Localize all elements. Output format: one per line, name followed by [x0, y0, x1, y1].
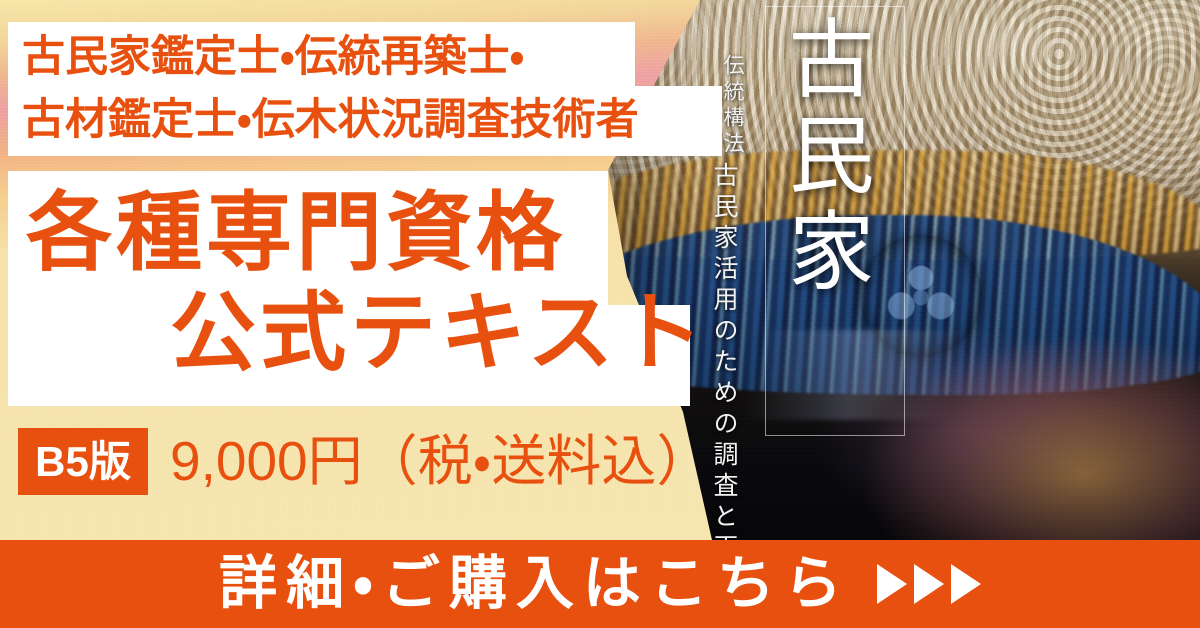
triangle-right-icon [877, 564, 907, 604]
cover-title-text: 古民家 [798, 14, 878, 302]
triangle-right-icon [951, 564, 981, 604]
cta-bar[interactable]: 詳細・ご購入はこちら [0, 540, 1200, 628]
format-badge: B5版 [18, 428, 148, 495]
promo-banner: 古民家 伝統構法 古民家活用のための調査と再生の 古民家鑑定士・伝統再築士・ 古… [0, 0, 1200, 628]
main-title-line-1: 各種専門資格 [26, 190, 566, 276]
triangle-right-icon [914, 564, 944, 604]
cover-subtitle-upper: 伝統構法 [718, 54, 748, 158]
price-text: 9,000円（税・送料込） [170, 434, 711, 489]
cover-subtitle-lower: 古民家活用のための調査と再生の [706, 162, 742, 540]
main-title-line-2: 公式テキスト [170, 290, 707, 376]
cta-arrow-group [877, 564, 981, 604]
format-badge-label: B5版 [35, 441, 131, 483]
headline-text: 古民家鑑定士・伝統再築士・ 古材鑑定士・伝木状況調査技術者 [22, 26, 722, 152]
headline-line-1: 古民家鑑定士・伝統再築士・ [22, 26, 722, 89]
headline-line-2: 古材鑑定士・伝木状況調査技術者 [22, 89, 722, 152]
cta-label: 詳細・ご購入はこちら [219, 555, 851, 613]
